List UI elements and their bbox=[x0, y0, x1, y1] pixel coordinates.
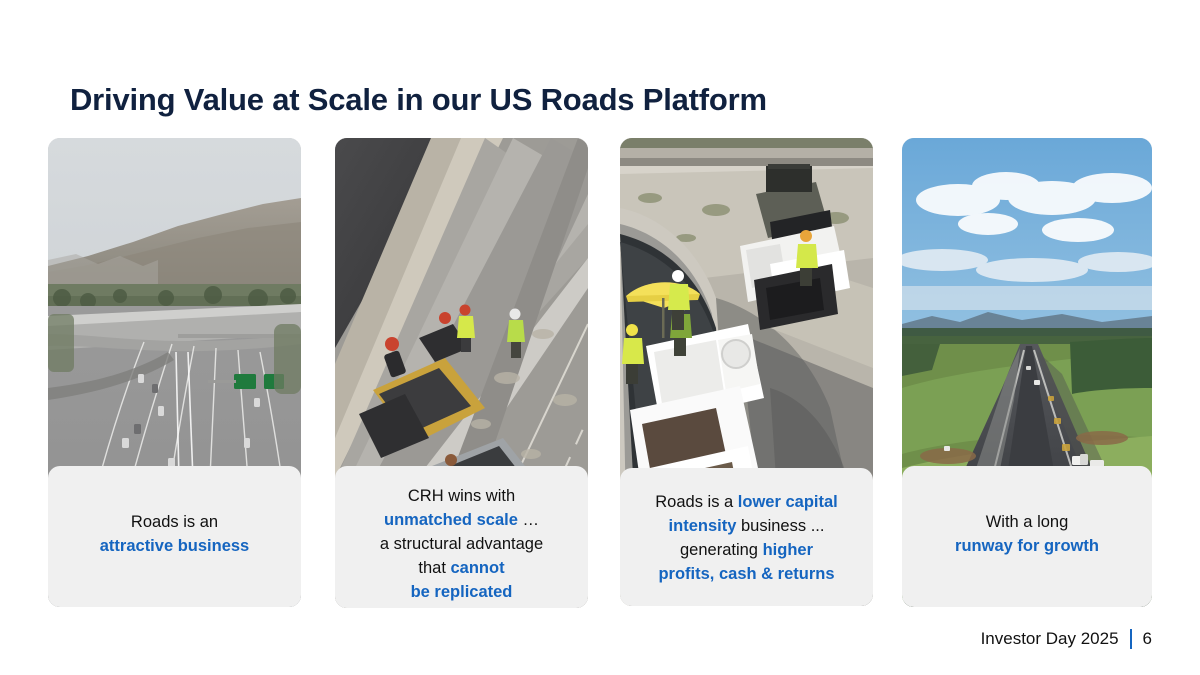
caption-line: CRH wins with bbox=[343, 484, 580, 508]
caption-line: With a long bbox=[910, 510, 1144, 534]
caption-line: runway for growth bbox=[910, 534, 1144, 558]
caption-line: Roads is an bbox=[56, 510, 293, 534]
footer-event-label: Investor Day 2025 bbox=[981, 629, 1119, 649]
card-2-caption: CRH wins with unmatched scale … a struct… bbox=[335, 466, 588, 608]
card-1-caption: Roads is an attractive business bbox=[48, 466, 301, 607]
caption-line: generating higher bbox=[628, 538, 865, 562]
caption-line: Roads is a lower capital bbox=[628, 490, 865, 514]
card-3-caption: Roads is a lower capital intensity busin… bbox=[620, 468, 873, 606]
caption-line: that cannot bbox=[343, 556, 580, 580]
caption-line: be replicated bbox=[343, 580, 580, 604]
card-unmatched-scale[interactable]: CRH wins with unmatched scale … a struct… bbox=[335, 138, 588, 608]
caption-line: profits, cash & returns bbox=[628, 562, 865, 586]
card-4-caption: With a long runway for growth bbox=[902, 466, 1152, 607]
caption-line: unmatched scale … bbox=[343, 508, 580, 532]
page-title: Driving Value at Scale in our US Roads P… bbox=[70, 82, 767, 118]
footer-divider bbox=[1130, 629, 1132, 649]
caption-line: a structural advantage bbox=[343, 532, 580, 556]
cards-row: Roads is an attractive business bbox=[0, 138, 1200, 613]
slide-root: Driving Value at Scale in our US Roads P… bbox=[0, 0, 1200, 675]
slide-footer: Investor Day 2025 6 bbox=[981, 629, 1152, 649]
caption-line: intensity business ... bbox=[628, 514, 865, 538]
card-runway-for-growth[interactable]: With a long runway for growth bbox=[902, 138, 1152, 607]
caption-line: attractive business bbox=[56, 534, 293, 558]
card-roads-attractive-business[interactable]: Roads is an attractive business bbox=[48, 138, 301, 607]
page-number: 6 bbox=[1143, 629, 1152, 649]
card-lower-capital-intensity[interactable]: Roads is a lower capital intensity busin… bbox=[620, 138, 873, 606]
